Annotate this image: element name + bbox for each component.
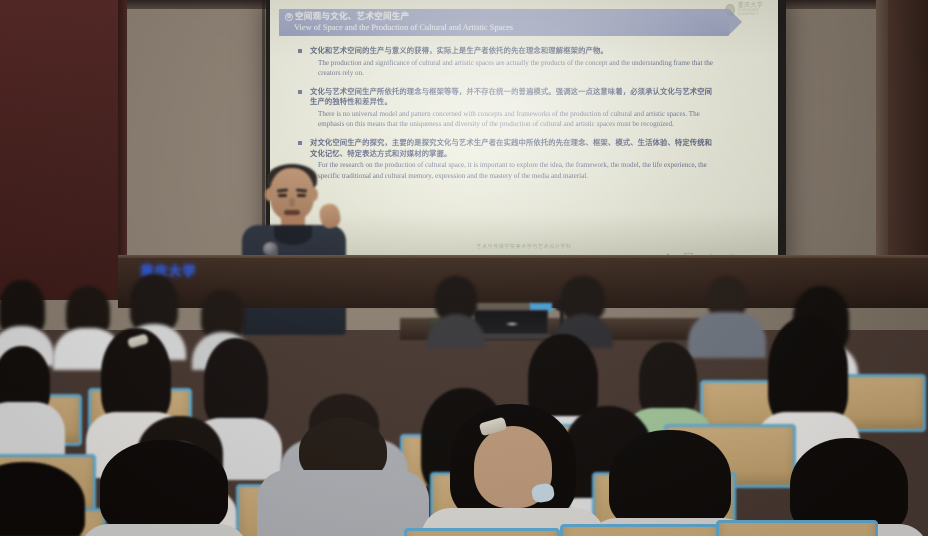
lecturer-eye-left: [278, 194, 287, 197]
slide-bullet: 对文化空间生产的探究，主要的是探究文化与艺术生产者在实践中所依托的先在理念、框架…: [298, 138, 718, 180]
audience-member: [430, 276, 482, 336]
person-torso: [79, 524, 249, 536]
audience-member: [268, 418, 418, 536]
bullet-square-icon: [298, 90, 302, 94]
bullet-english: The production and significance of cultu…: [310, 58, 718, 78]
bullet-square-icon: [298, 49, 302, 53]
person-hair: [204, 338, 268, 428]
slide-title-chinese: ②空间观与文化、艺术空间生产: [285, 10, 729, 22]
person-torso: [257, 470, 429, 536]
lecturer-eye-right: [297, 194, 306, 197]
bullet-english: There is no universal model and pattern …: [310, 109, 718, 129]
bullet-chinese: 对文化空间生产的探究，主要的是探究文化与艺术生产者在实践中所依托的先在理念、框架…: [310, 138, 718, 159]
slide-title-english: View of Space and the Production of Cult…: [285, 22, 729, 34]
microphone-head: [263, 242, 278, 256]
audience-member: [556, 276, 610, 340]
slide-bullet: 文化和艺术空间的生产与意义的获得，实际上是生产者依托的先在理念和理解框架的产物。…: [298, 46, 718, 78]
audience-member: [0, 346, 58, 456]
bullet-square-icon: [298, 141, 302, 145]
lecture-seat: [404, 528, 560, 536]
title-number-icon: ②: [285, 13, 293, 21]
audience-area: [0, 276, 928, 536]
audience-member: [696, 274, 758, 350]
lecturer-nose: [289, 198, 295, 207]
lecture-hall-scene: 重庆大学 CHONGQING UNIVERSITY ②空间观与文化、艺术空间生产…: [0, 0, 928, 536]
lecture-seat: [560, 524, 720, 536]
slide-title-banner: ②空间观与文化、艺术空间生产 View of Space and the Pro…: [279, 9, 729, 36]
lecturer-ear-right: [310, 188, 318, 201]
person-hair: [0, 462, 85, 536]
person-hair: [609, 430, 731, 530]
lecture-seat: [716, 520, 878, 536]
audience-member: [428, 404, 598, 536]
audience-member: [84, 440, 244, 536]
person-hair: [201, 290, 245, 338]
slide-body: 文化和艺术空间的生产与意义的获得，实际上是生产者依托的先在理念和理解框架的产物。…: [298, 46, 718, 190]
left-maroon-wall-panel: [0, 0, 118, 300]
slide-title-chinese-text: 空间观与文化、艺术空间生产: [295, 11, 409, 21]
person-torso: [427, 314, 485, 348]
bullet-chinese: 文化与艺术空间生产所依托的理念与框架等等，并不存在统一的普遍模式。强调这一点这意…: [310, 87, 718, 108]
bullet-chinese: 文化和艺术空间的生产与意义的获得，实际上是生产者依托的先在理念和理解框架的产物。: [310, 46, 718, 57]
audience-member: [0, 280, 50, 350]
lecturer-ear-left: [265, 188, 273, 201]
logo-subtext: CHONGQING UNIVERSITY: [738, 9, 771, 16]
person-torso: [0, 402, 65, 462]
slide-bullet: 文化与艺术空间生产所依托的理念与框架等等，并不存在统一的普遍模式。强调这一点这意…: [298, 87, 718, 129]
bullet-english: For the research on the production of cu…: [310, 160, 718, 180]
person-hair: [100, 440, 228, 534]
